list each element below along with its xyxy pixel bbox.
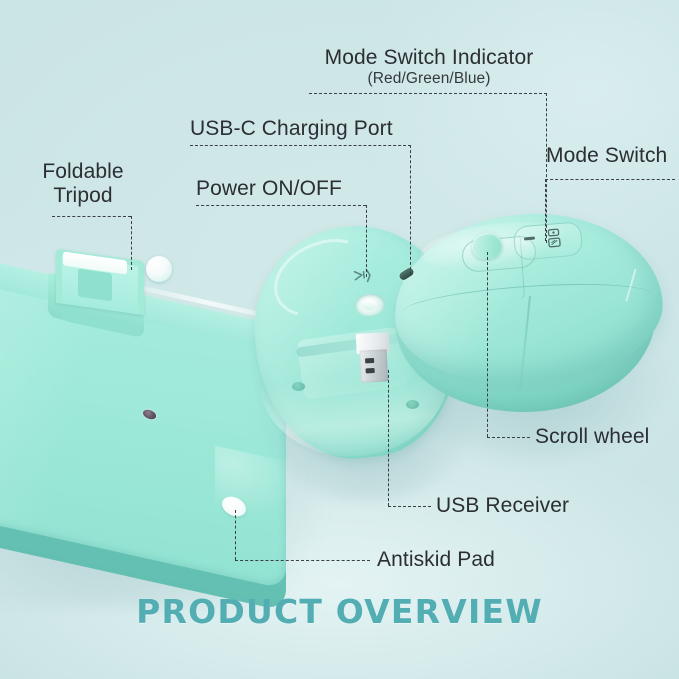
keyboard-round-button	[146, 256, 172, 282]
leader-power-h	[196, 205, 366, 206]
leader-antiskid-v	[235, 510, 236, 560]
leader-usb-c-v	[410, 145, 411, 275]
leader-mode-switch-indicator-v	[546, 93, 547, 243]
leader-mode-switch-h	[545, 179, 675, 180]
leader-mode-switch-v	[545, 179, 546, 241]
leader-tripod-h	[52, 216, 131, 217]
callout-mode-switch: Mode Switch	[546, 144, 667, 168]
callout-foldable-tripod-line1: Foldable	[28, 160, 138, 184]
mouse-foot-pad-left	[292, 382, 305, 391]
callout-antiskid-pad: Antiskid Pad	[377, 548, 495, 572]
callout-power-on-off: Power ON/OFF	[196, 177, 342, 201]
leader-power-v	[366, 205, 367, 277]
callout-mode-switch-indicator-label: Mode Switch Indicator	[310, 46, 548, 70]
callout-foldable-tripod-line2: Tripod	[28, 184, 138, 208]
leader-tripod-v	[131, 216, 132, 270]
usb-contact-slot-a	[365, 358, 374, 363]
leader-antiskid-h	[235, 560, 370, 561]
leader-scroll-wheel-h	[487, 437, 530, 438]
mouse-optical-sensor-lens	[362, 300, 377, 310]
usb-contact-slot-b	[366, 368, 375, 373]
callout-scroll-wheel: Scroll wheel	[535, 425, 649, 449]
product-photo	[0, 0, 679, 679]
leader-usb-c-h	[190, 145, 411, 146]
product-overview-image: Mode Switch Indicator (Red/Green/Blue) U…	[0, 0, 679, 679]
usb-receiver-dongle	[356, 332, 392, 384]
mode-switch-icon	[545, 227, 563, 248]
callout-usb-c-charging-port: USB-C Charging Port	[190, 117, 393, 141]
callout-usb-receiver: USB Receiver	[436, 494, 569, 518]
leader-scroll-wheel-v	[487, 252, 488, 437]
foldable-tripod-slot	[78, 269, 112, 302]
callout-foldable-tripod: Foldable Tripod	[28, 160, 138, 207]
leader-mode-switch-indicator-h	[309, 93, 547, 94]
leader-usb-receiver-v	[388, 370, 389, 506]
usb-receiver-metal-shell	[360, 349, 389, 382]
leader-usb-receiver-h	[388, 506, 431, 507]
callout-mode-switch-indicator-sublabel: (Red/Green/Blue)	[310, 70, 548, 87]
page-title: PRODUCT OVERVIEW	[0, 592, 679, 631]
power-onoff-icon	[351, 267, 373, 285]
callout-mode-switch-indicator: Mode Switch Indicator (Red/Green/Blue)	[310, 46, 548, 87]
